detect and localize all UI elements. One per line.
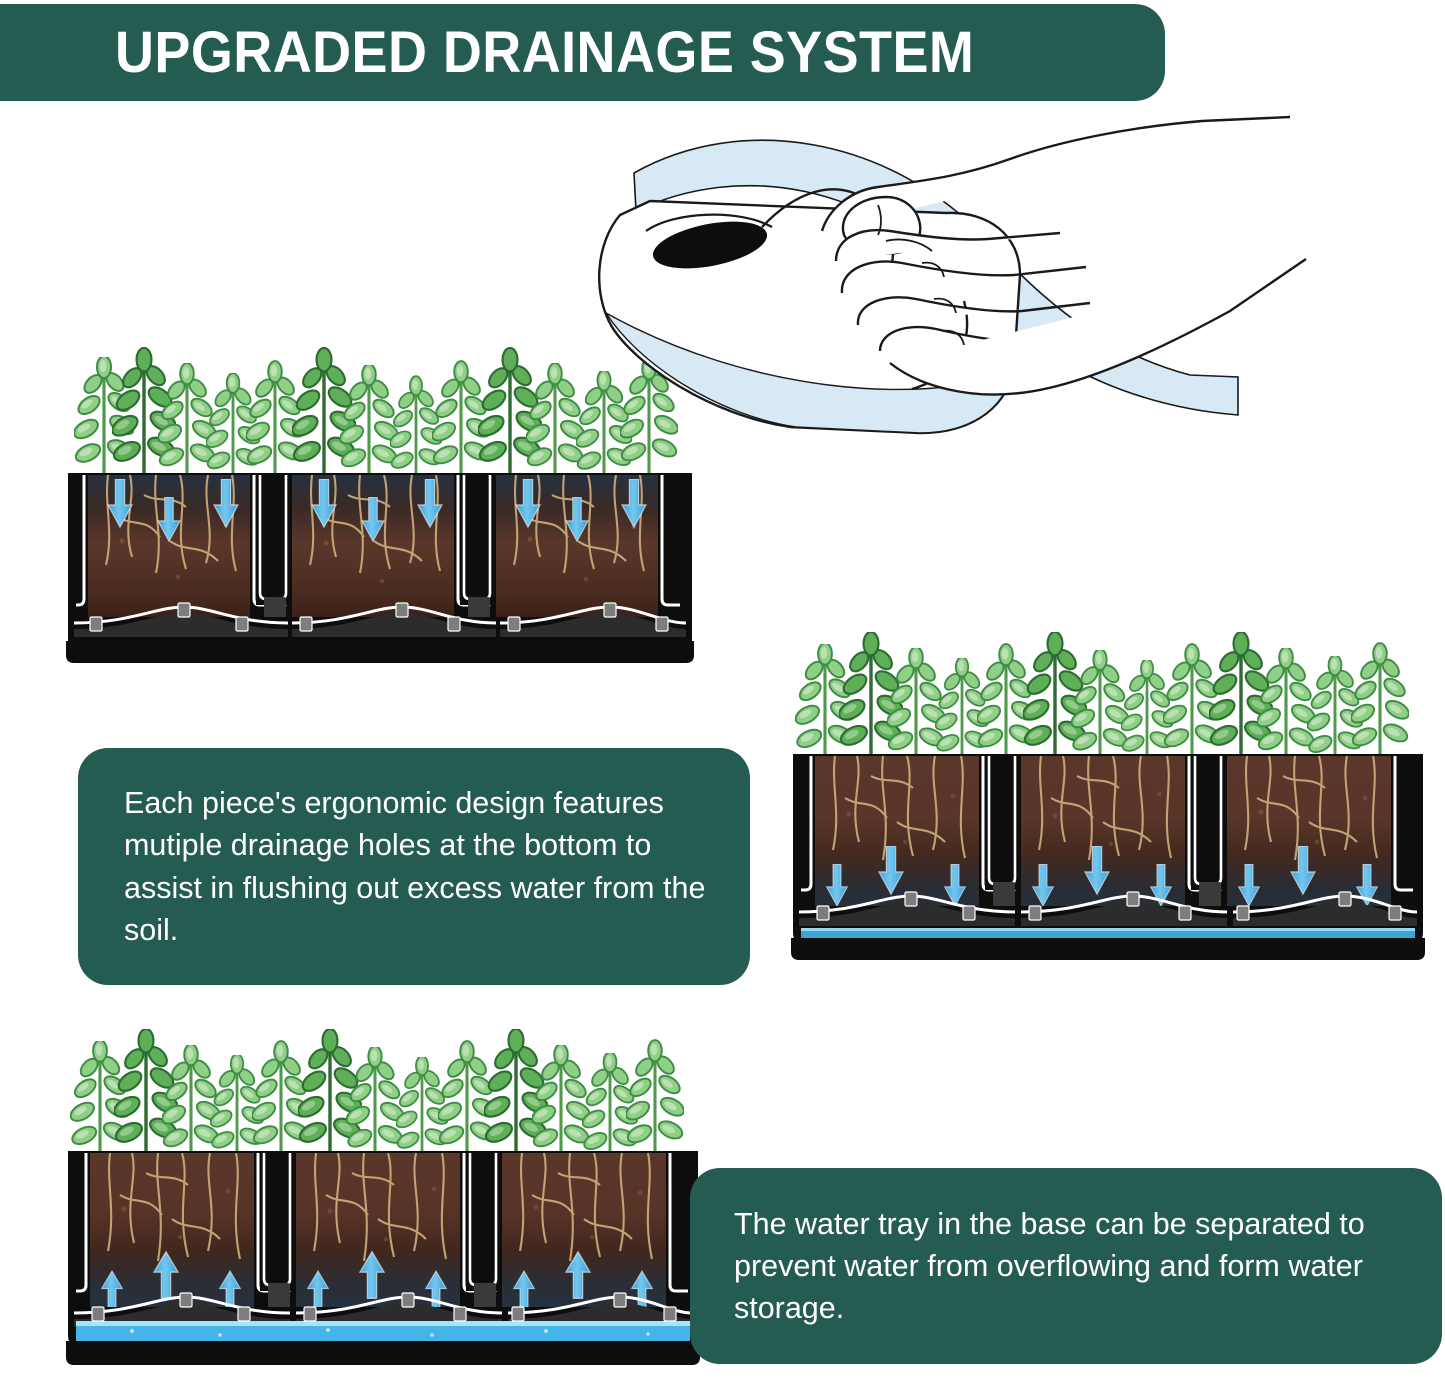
planter-wicking-svg — [60, 1025, 705, 1378]
drainage-holes-card: Each piece's ergonomic design features m… — [78, 748, 750, 985]
drainage-holes-card-text: Each piece's ergonomic design features m… — [78, 782, 750, 950]
planter-body — [66, 1151, 700, 1365]
water-tray-card: The water tray in the base can be separa… — [690, 1168, 1442, 1364]
header-banner: UPGRADED DRAINAGE SYSTEM — [0, 4, 1165, 101]
water-tray-card-text: The water tray in the base can be separa… — [690, 1203, 1442, 1329]
illustration-hand-watering-can — [590, 115, 1310, 505]
foliage-group — [68, 1029, 687, 1163]
tray-water-full — [76, 1321, 690, 1341]
watering-can-svg — [590, 115, 1310, 505]
foliage-group — [793, 632, 1412, 766]
illustration-planter-wicking — [60, 1025, 705, 1378]
page-title: UPGRADED DRAINAGE SYSTEM — [115, 19, 974, 86]
planter-body — [791, 754, 1425, 960]
tray-water-partial — [801, 928, 1415, 938]
illustration-planter-draining — [785, 628, 1430, 978]
planter-draining-svg — [785, 628, 1430, 978]
infographic-page: UPGRADED DRAINAGE SYSTEM — [0, 0, 1445, 1378]
